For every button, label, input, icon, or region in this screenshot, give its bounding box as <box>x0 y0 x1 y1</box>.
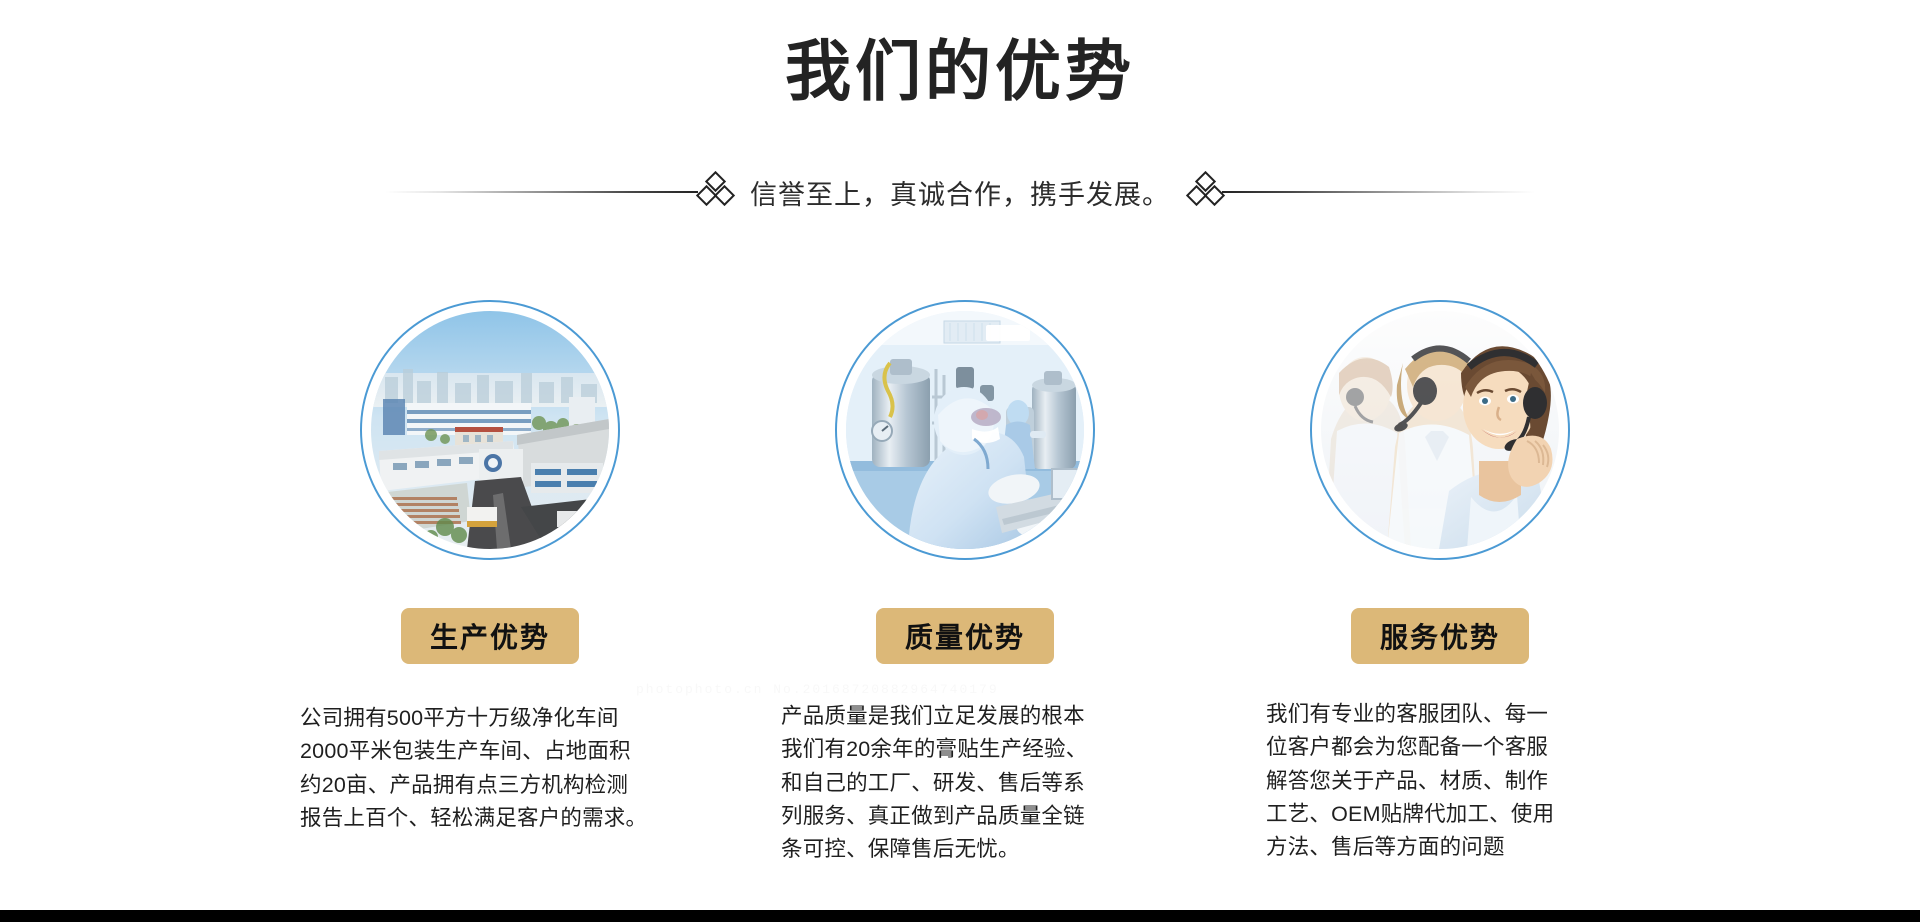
circle-photo-frame <box>1310 300 1570 560</box>
badge-service-advantage[interactable]: 服务优势 <box>1351 608 1529 664</box>
body-line: 和自己的工厂、研发、售后等系 <box>781 767 1165 800</box>
subtitle-divider: 信誉至上，真诚合作，携手发展。 <box>385 168 1535 216</box>
body-line: 解答您关于产品、材质、制作 <box>1266 765 1640 798</box>
body-line: 公司拥有500平方十万级净化车间 <box>300 702 690 735</box>
body-line: 条可控、保障售后无忧。 <box>781 833 1165 866</box>
body-line: 2000平米包装生产车间、占地面积 <box>300 735 690 768</box>
page-title: 我们的优势 <box>0 30 1920 113</box>
body-line: 约20亩、产品拥有点三方机构检测 <box>300 769 690 802</box>
factory-aerial-photo <box>371 311 609 549</box>
card-body-text: 公司拥有500平方十万级净化车间 2000平米包装生产车间、占地面积 约20亩、… <box>290 702 690 835</box>
diamond-ornament-left <box>698 170 732 214</box>
badge-quality-advantage[interactable]: 质量优势 <box>876 608 1054 664</box>
body-line: 位客户都会为您配备一个客服 <box>1266 731 1640 764</box>
body-line: 工艺、OEM贴牌代加工、使用 <box>1266 798 1640 831</box>
cleanroom-production-photo <box>846 311 1084 549</box>
watermark-text: photophoto.cn No.20168720882964740179 <box>636 682 999 697</box>
advantage-card: 质量优势 产品质量是我们立足发展的根本 我们有20余年的膏贴生产经验、 和自己的… <box>765 300 1165 867</box>
circle-photo-frame <box>835 300 1095 560</box>
divider-line-left <box>385 191 698 193</box>
advantages-section: 我们的优势 信誉至上，真诚合作，携手发展。 <box>0 0 1920 922</box>
customer-service-team-photo <box>1321 311 1559 549</box>
body-line: 我们有专业的客服团队、每一 <box>1266 698 1640 731</box>
badge-production-advantage[interactable]: 生产优势 <box>401 608 579 664</box>
body-line: 列服务、真正做到产品质量全链 <box>781 800 1165 833</box>
card-body-text: 产品质量是我们立足发展的根本 我们有20余年的膏贴生产经验、 和自己的工厂、研发… <box>765 700 1165 867</box>
advantage-card-list: 生产优势 公司拥有500平方十万级净化车间 2000平米包装生产车间、占地面积 … <box>290 300 1640 867</box>
divider-line-right <box>1222 191 1535 193</box>
diamond-ornament-right <box>1188 170 1222 214</box>
advantage-card: 生产优势 公司拥有500平方十万级净化车间 2000平米包装生产车间、占地面积 … <box>290 300 690 835</box>
card-body-text: 我们有专业的客服团队、每一 位客户都会为您配备一个客服 解答您关于产品、材质、制… <box>1240 698 1640 865</box>
subtitle-text: 信誉至上，真诚合作，携手发展。 <box>732 173 1188 212</box>
body-line: 方法、售后等方面的问题 <box>1266 831 1640 864</box>
advantage-card: 服务优势 我们有专业的客服团队、每一 位客户都会为您配备一个客服 解答您关于产品… <box>1240 300 1640 865</box>
bottom-bar <box>0 910 1920 922</box>
body-line: 我们有20余年的膏贴生产经验、 <box>781 733 1165 766</box>
body-line: 产品质量是我们立足发展的根本 <box>781 700 1165 733</box>
circle-photo-frame <box>360 300 620 560</box>
body-line: 报告上百个、轻松满足客户的需求。 <box>300 802 690 835</box>
